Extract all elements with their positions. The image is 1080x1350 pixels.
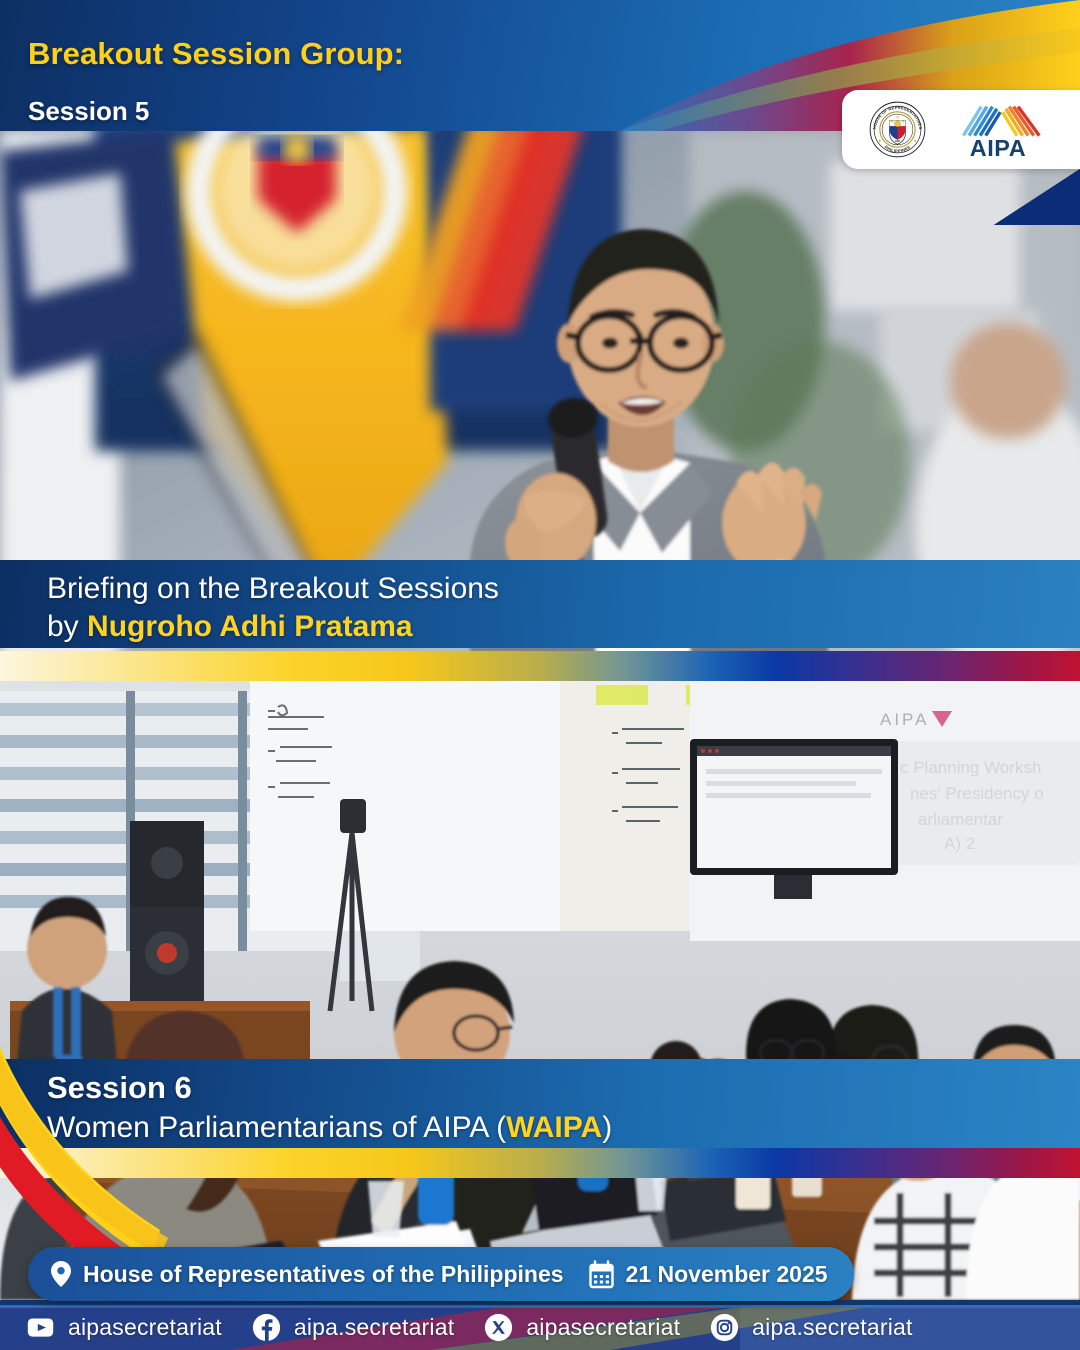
youtube-icon (26, 1313, 55, 1342)
page-subtitle: Session 5 (28, 96, 149, 127)
social-links-row: aipasecretariat aipa.secretariat aipasec… (0, 1305, 1080, 1350)
svg-text:arliamentar: arliamentar (918, 810, 1003, 829)
svg-text:AIPA: AIPA (969, 135, 1025, 159)
location-info: House of Representatives of the Philippi… (50, 1260, 564, 1288)
social-link-instagram[interactable]: aipa.secretariat (710, 1313, 912, 1342)
x-handle: aipasecretariat (526, 1314, 680, 1341)
social-link-x[interactable]: aipasecretariat (484, 1313, 680, 1342)
social-media-card: Breakout Session Group: Session 5 HOUSE … (0, 0, 1080, 1350)
social-link-youtube[interactable]: aipasecretariat (26, 1313, 222, 1342)
instagram-handle: aipa.secretariat (752, 1314, 912, 1341)
x-twitter-icon (484, 1313, 513, 1342)
svg-text:AIPA: AIPA (880, 710, 929, 729)
corner-triangle-decoration (994, 169, 1080, 225)
svg-text:nes' Presidency o: nes' Presidency o (910, 784, 1044, 803)
svg-text:c Planning Worksh: c Planning Worksh (900, 758, 1041, 777)
session5-speaker-name: Nugroho Adhi Pratama (87, 610, 413, 643)
location-text: House of Representatives of the Philippi… (83, 1261, 564, 1288)
session5-caption-line1: Briefing on the Breakout Sessions (47, 572, 499, 606)
aipa-logo: AIPA (942, 101, 1054, 159)
svg-text:1987: 1987 (894, 139, 900, 143)
session5-caption-line2: by Nugroho Adhi Pratama (47, 610, 413, 644)
page-title: Breakout Session Group: (28, 36, 404, 72)
waipa-acronym: WAIPA (506, 1111, 602, 1144)
youtube-handle: aipasecretariat (68, 1314, 222, 1341)
facebook-icon (252, 1313, 281, 1342)
location-pin-icon (50, 1260, 72, 1288)
date-text: 21 November 2025 (626, 1261, 828, 1288)
calendar-icon (588, 1260, 615, 1289)
social-link-facebook[interactable]: aipa.secretariat (252, 1313, 454, 1342)
instagram-icon (710, 1313, 739, 1342)
gradient-stripe-top (0, 651, 1080, 681)
session5-caption-band: Briefing on the Breakout Sessions by Nug… (0, 560, 1080, 648)
session5-by-label: by (47, 610, 87, 643)
house-of-representatives-seal-icon: HOUSE OF REPRESENTATIVES PHILIPPINES 198… (869, 101, 926, 158)
logo-card: HOUSE OF REPRESENTATIVES PHILIPPINES 198… (842, 90, 1080, 169)
date-info: 21 November 2025 (588, 1260, 828, 1289)
facebook-handle: aipa.secretariat (294, 1314, 454, 1341)
svg-text:A) 2: A) 2 (944, 834, 975, 853)
session6-subtitle-suffix: ) (602, 1111, 612, 1144)
event-info-pill: House of Representatives of the Philippi… (28, 1247, 854, 1301)
